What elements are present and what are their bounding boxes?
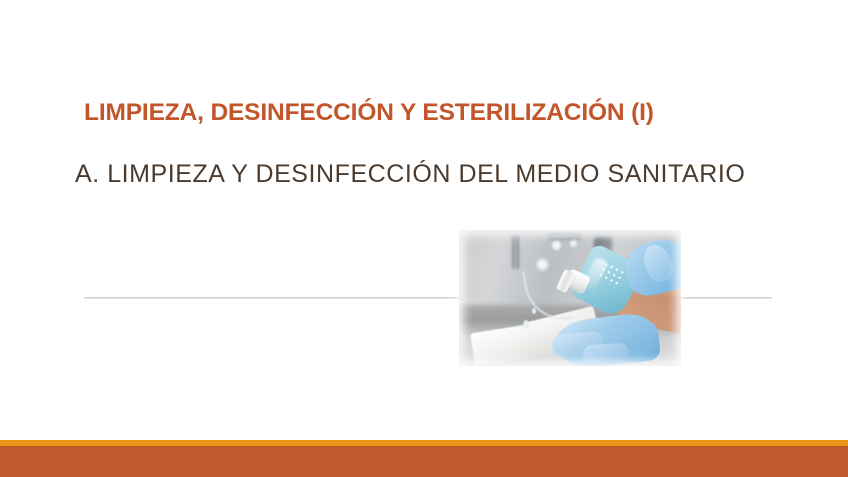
cloth-wipe-back bbox=[524, 306, 599, 347]
faucet-icon bbox=[512, 235, 519, 269]
blue-glove-finger bbox=[551, 331, 605, 357]
highlight-speck bbox=[599, 248, 607, 256]
forearm bbox=[599, 243, 681, 342]
highlight-speck bbox=[537, 259, 548, 270]
bottle-texture bbox=[596, 261, 628, 291]
blue-glove-lower bbox=[554, 311, 655, 366]
blue-glove-finger bbox=[583, 343, 630, 364]
highlight-speck bbox=[570, 240, 577, 247]
blue-glove-upper bbox=[620, 234, 681, 300]
footer-band bbox=[0, 446, 848, 477]
faucet-spout-icon bbox=[548, 233, 582, 240]
blue-glove-cuff bbox=[616, 320, 661, 365]
bottle-neck bbox=[563, 268, 591, 295]
forearm-shadow bbox=[616, 284, 681, 336]
cloth-wipe bbox=[470, 317, 580, 366]
bottle-highlight bbox=[581, 256, 609, 293]
liquid-drop bbox=[523, 320, 529, 329]
liquid-stream bbox=[522, 265, 573, 325]
disinfectant-bottle bbox=[569, 242, 645, 319]
photo-soft-edge-vignette bbox=[459, 230, 681, 366]
blue-glove-finger bbox=[639, 240, 677, 285]
page-title: LIMPIEZA, DESINFECCIÓN Y ESTERILIZACIÓN … bbox=[84, 99, 784, 127]
fixture-icon bbox=[594, 237, 612, 263]
photo-background-wall bbox=[459, 230, 681, 314]
photo-background-counter bbox=[459, 305, 681, 366]
highlight-speck bbox=[552, 241, 561, 250]
slide-subtitle: A. LIMPIEZA Y DESINFECCIÓN DEL MEDIO SAN… bbox=[75, 160, 815, 189]
bottle-cap bbox=[556, 269, 575, 294]
liquid-drop bbox=[532, 308, 536, 314]
presentation-slide: LIMPIEZA, DESINFECCIÓN Y ESTERILIZACIÓN … bbox=[0, 0, 848, 477]
disinfectant-photo bbox=[459, 230, 681, 366]
